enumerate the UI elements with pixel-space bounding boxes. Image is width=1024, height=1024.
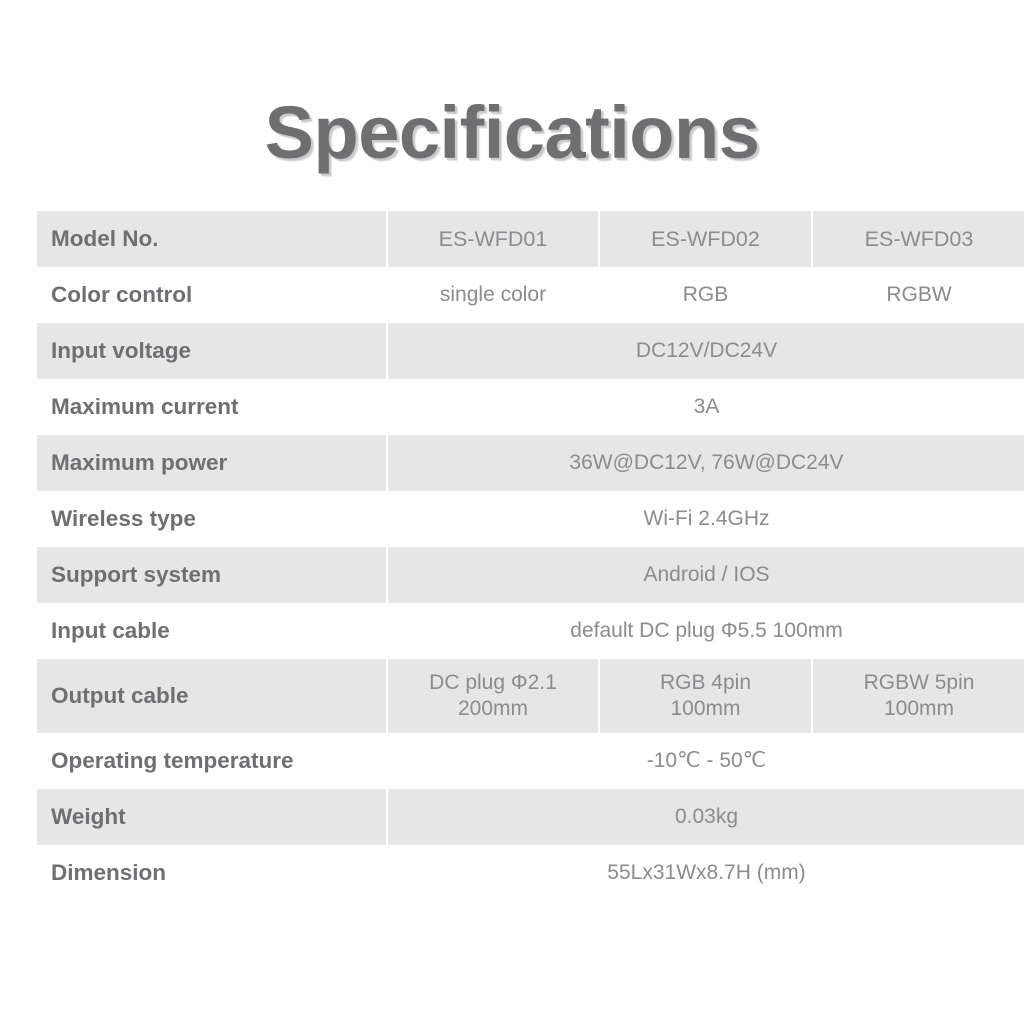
cell-weight: 0.03kg <box>386 789 1024 845</box>
table-row: Maximum current 3A <box>37 379 1024 435</box>
cell-color-control-1: single color <box>386 267 598 323</box>
table-row: Operating temperature -10℃ - 50℃ <box>37 733 1024 789</box>
row-label-maximum-power: Maximum power <box>37 435 386 491</box>
cell-color-control-2: RGB <box>598 267 811 323</box>
cell-output-cable-2-line1: RGB 4pin <box>600 670 811 696</box>
specifications-page: Specifications Model No. ES-WFD01 ES-WFD… <box>0 0 1024 1024</box>
row-label-color-control: Color control <box>37 267 386 323</box>
cell-output-cable-1-line1: DC plug Φ2.1 <box>388 670 598 696</box>
cell-output-cable-3: RGBW 5pin 100mm <box>811 659 1024 733</box>
cell-input-voltage: DC12V/DC24V <box>386 323 1024 379</box>
cell-output-cable-1-line2: 200mm <box>388 696 598 722</box>
row-label-operating-temperature: Operating temperature <box>37 733 386 789</box>
row-label-wireless-type: Wireless type <box>37 491 386 547</box>
cell-model-no-2: ES-WFD02 <box>598 211 811 267</box>
table-row: Color control single color RGB RGBW <box>37 267 1024 323</box>
cell-maximum-current: 3A <box>386 379 1024 435</box>
table-row: Wireless type Wi-Fi 2.4GHz <box>37 491 1024 547</box>
cell-operating-temperature: -10℃ - 50℃ <box>386 733 1024 789</box>
row-label-dimension: Dimension <box>37 845 386 901</box>
specifications-table: Model No. ES-WFD01 ES-WFD02 ES-WFD03 Col… <box>37 211 1024 901</box>
table-row: Support system Android / IOS <box>37 547 1024 603</box>
cell-input-cable: default DC plug Φ5.5 100mm <box>386 603 1024 659</box>
specifications-table-body: Model No. ES-WFD01 ES-WFD02 ES-WFD03 Col… <box>37 211 1024 901</box>
cell-color-control-3: RGBW <box>811 267 1024 323</box>
cell-support-system: Android / IOS <box>386 547 1024 603</box>
table-row: Maximum power 36W@DC12V, 76W@DC24V <box>37 435 1024 491</box>
cell-output-cable-2: RGB 4pin 100mm <box>598 659 811 733</box>
cell-dimension: 55Lx31Wx8.7H (mm) <box>386 845 1024 901</box>
cell-maximum-power: 36W@DC12V, 76W@DC24V <box>386 435 1024 491</box>
row-label-input-cable: Input cable <box>37 603 386 659</box>
page-title-container: Specifications <box>0 96 1024 170</box>
table-row: Output cable DC plug Φ2.1 200mm RGB 4pin… <box>37 659 1024 733</box>
row-label-output-cable: Output cable <box>37 659 386 733</box>
cell-model-no-1: ES-WFD01 <box>386 211 598 267</box>
row-label-model-no: Model No. <box>37 211 386 267</box>
table-row: Dimension 55Lx31Wx8.7H (mm) <box>37 845 1024 901</box>
row-label-support-system: Support system <box>37 547 386 603</box>
cell-model-no-3: ES-WFD03 <box>811 211 1024 267</box>
page-title: Specifications <box>265 96 760 170</box>
table-row: Weight 0.03kg <box>37 789 1024 845</box>
table-row: Model No. ES-WFD01 ES-WFD02 ES-WFD03 <box>37 211 1024 267</box>
cell-output-cable-3-line2: 100mm <box>813 696 1024 722</box>
row-label-input-voltage: Input voltage <box>37 323 386 379</box>
cell-wireless-type: Wi-Fi 2.4GHz <box>386 491 1024 547</box>
table-row: Input voltage DC12V/DC24V <box>37 323 1024 379</box>
cell-output-cable-1: DC plug Φ2.1 200mm <box>386 659 598 733</box>
cell-output-cable-3-line1: RGBW 5pin <box>813 670 1024 696</box>
table-row: Input cable default DC plug Φ5.5 100mm <box>37 603 1024 659</box>
cell-output-cable-2-line2: 100mm <box>600 696 811 722</box>
row-label-maximum-current: Maximum current <box>37 379 386 435</box>
row-label-weight: Weight <box>37 789 386 845</box>
